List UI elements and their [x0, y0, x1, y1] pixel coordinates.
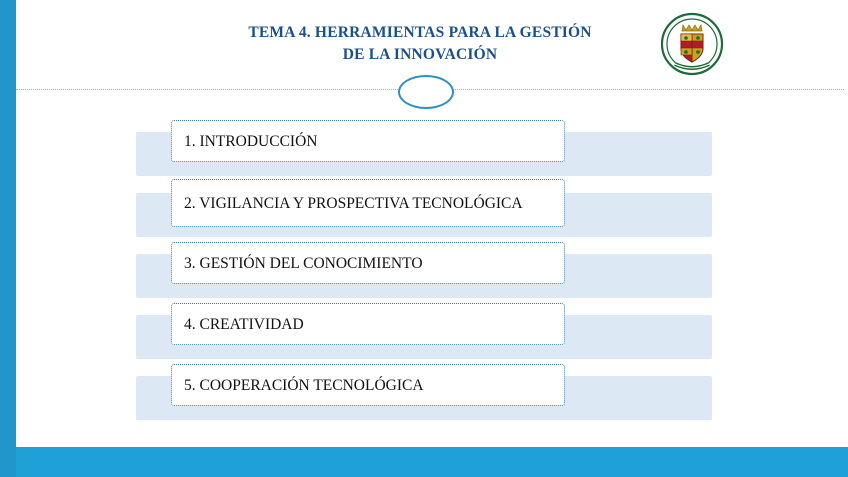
bottom-accent-bar	[16, 447, 848, 477]
slide-title: TEMA 4. HERRAMIENTAS PARA LA GESTIÓN DE …	[180, 22, 660, 66]
list-item[interactable]: 4. CREATIVIDAD	[0, 301, 848, 362]
list-item-label: 1. INTRODUCCIÓN	[184, 132, 317, 151]
title-line-2: DE LA INNOVACIÓN	[180, 44, 660, 66]
header-ellipse-decoration	[398, 75, 454, 109]
slide: TEMA 4. HERRAMIENTAS PARA LA GESTIÓN DE …	[0, 0, 848, 477]
title-line-1: TEMA 4. HERRAMIENTAS PARA LA GESTIÓN	[180, 22, 660, 44]
agenda-list: 1. INTRODUCCIÓN 2. VIGILANCIA Y PROSPECT…	[0, 118, 848, 423]
list-item-label: 4. CREATIVIDAD	[184, 315, 304, 334]
list-item-box[interactable]: 2. VIGILANCIA Y PROSPECTIVA TECNOLÓGICA	[171, 179, 565, 227]
list-item-label: 2. VIGILANCIA Y PROSPECTIVA TECNOLÓGICA	[184, 194, 523, 213]
list-item-box[interactable]: 4. CREATIVIDAD	[171, 303, 565, 345]
list-item-box[interactable]: 1. INTRODUCCIÓN	[171, 120, 565, 162]
list-item[interactable]: 5. COOPERACIÓN TECNOLÓGICA	[0, 362, 848, 423]
university-crest-logo	[659, 12, 725, 76]
list-item-label: 5. COOPERACIÓN TECNOLÓGICA	[184, 376, 424, 395]
list-item[interactable]: 2. VIGILANCIA Y PROSPECTIVA TECNOLÓGICA	[0, 179, 848, 240]
list-item-box[interactable]: 3. GESTIÓN DEL CONOCIMIENTO	[171, 242, 565, 284]
list-item-box[interactable]: 5. COOPERACIÓN TECNOLÓGICA	[171, 364, 565, 406]
list-item[interactable]: 3. GESTIÓN DEL CONOCIMIENTO	[0, 240, 848, 301]
list-item[interactable]: 1. INTRODUCCIÓN	[0, 118, 848, 179]
list-item-label: 3. GESTIÓN DEL CONOCIMIENTO	[184, 254, 423, 273]
